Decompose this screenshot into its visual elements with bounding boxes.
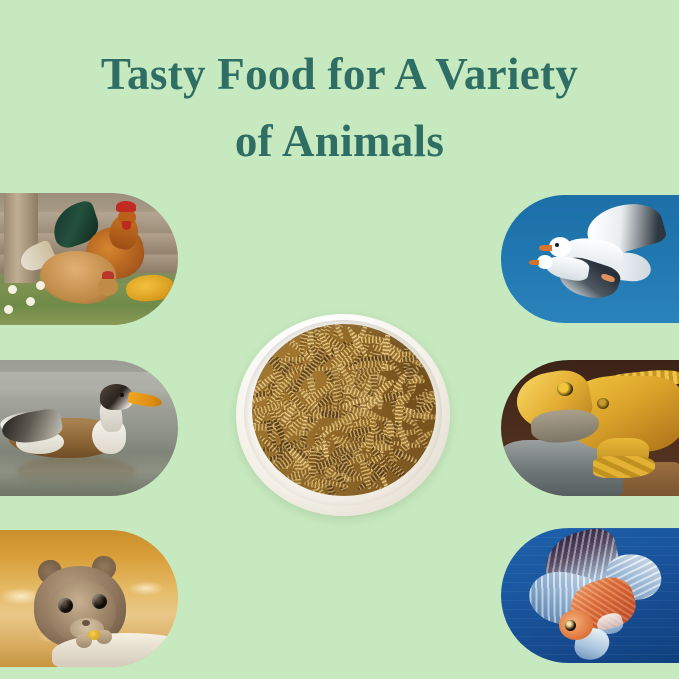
second-seagull-beak [529,260,539,265]
hamster-nose [82,620,90,626]
product-poster: Tasty Food for A Variety of Animals [0,0,679,679]
seagull-eye [555,243,559,247]
betta-fish-photo-frame: Betta Fish [501,528,679,663]
hamster-photo: Hamster [0,530,178,667]
fish-eye [565,620,576,631]
white-flower [8,285,17,294]
dragon-eye [557,382,573,396]
rooster-comb [116,201,136,212]
dragon-toes [593,456,655,478]
mealworm-bowl: White round bowl filled with dried mealw… [236,314,450,516]
hamster-scene [0,530,178,667]
seagulls-photo: Seagulls [501,195,679,323]
title-line-1: Tasty Food for A Variety [0,52,679,97]
duck-scene [0,360,178,496]
seagull-head [549,237,571,257]
white-flower [4,305,13,314]
bearded-dragon-photo-frame: Bearded Dragon [501,360,679,496]
betta-fish-scene [501,528,679,663]
hamster-left-eye [58,598,73,613]
second-seagull-head [537,255,553,269]
water-highlight [0,372,178,398]
duck-photo: Duck [0,360,178,496]
seagulls-scene [501,195,679,323]
bowl-inner-shadow [244,320,442,506]
chickens-photo: Chickens [0,193,178,325]
betta-fish-photo: Betta Fish [501,528,679,663]
food-seed [88,630,100,640]
chickens-scene [0,193,178,325]
bearded-dragon-photo: Bearded Dragon [501,360,679,496]
bearded-dragon-scene [501,360,679,496]
seagulls-photo-frame: Seagulls [501,195,679,323]
rooster-wattle [122,221,131,230]
hen-comb [102,271,114,279]
duck-eye [120,393,124,397]
dragon-second-eye [597,398,609,409]
page-title: Tasty Food for A Variety of Animals [0,52,679,164]
mealworm-bowl-label: White round bowl filled with dried mealw… [236,314,237,315]
wooden-post [4,193,38,285]
hamster-right-eye [92,594,107,609]
title-line-2: of Animals [0,119,679,164]
chickens-photo-frame: Chickens [0,193,178,325]
seagull-beak [539,245,552,251]
hen-head [98,277,118,296]
hamster-photo-frame: Hamster [0,530,178,667]
duck-reflection [16,456,136,488]
white-flower [36,281,45,290]
white-flower [26,297,35,306]
duck-photo-frame: Duck [0,360,178,496]
